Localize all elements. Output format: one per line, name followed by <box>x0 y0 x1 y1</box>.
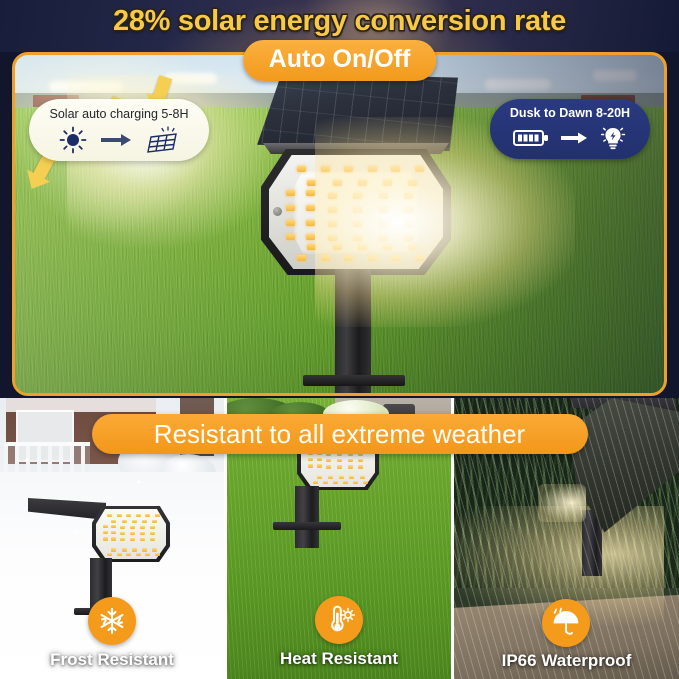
snowflake-icon <box>88 597 136 645</box>
lightbulb-icon <box>599 124 627 157</box>
auto-on-off-badge: Auto On/Off <box>243 40 437 81</box>
led-array <box>269 155 443 269</box>
feature-caption-frost: Frost Resistant <box>0 650 224 670</box>
feature-caption-heat: Heat Resistant <box>227 649 451 669</box>
arrow-right-icon <box>561 131 587 149</box>
weather-banner: Resistant to all extreme weather <box>92 414 588 454</box>
weather-banner-label: Resistant to all extreme weather <box>154 419 525 450</box>
arrow-right-icon <box>101 133 131 152</box>
dusk-to-dawn-label: Dusk to Dawn 8-20H <box>490 106 650 120</box>
solar-charging-pill: Solar auto charging 5-8H <box>29 99 209 161</box>
page-title: 28% solar energy conversion rate <box>0 5 679 38</box>
battery-icon <box>513 128 549 153</box>
dusk-to-dawn-pill: Dusk to Dawn 8-20H <box>490 99 650 159</box>
solar-panel-icon <box>145 126 179 159</box>
solar-charging-label: Solar auto charging 5-8H <box>29 107 209 121</box>
light-sensor-icon <box>273 207 282 216</box>
hero-panel: Solar auto charging 5-8H <box>12 52 667 396</box>
thermometer-sun-icon <box>315 596 363 644</box>
product-infographic: 28% solar energy conversion rate <box>0 0 679 679</box>
umbrella-icon <box>542 599 590 647</box>
solar-spotlight-product <box>247 73 462 396</box>
feature-caption-waterproof: IP66 Waterproof <box>454 651 679 671</box>
sun-icon <box>59 126 87 159</box>
lamp-base <box>303 375 405 386</box>
solar-panel <box>253 73 458 151</box>
